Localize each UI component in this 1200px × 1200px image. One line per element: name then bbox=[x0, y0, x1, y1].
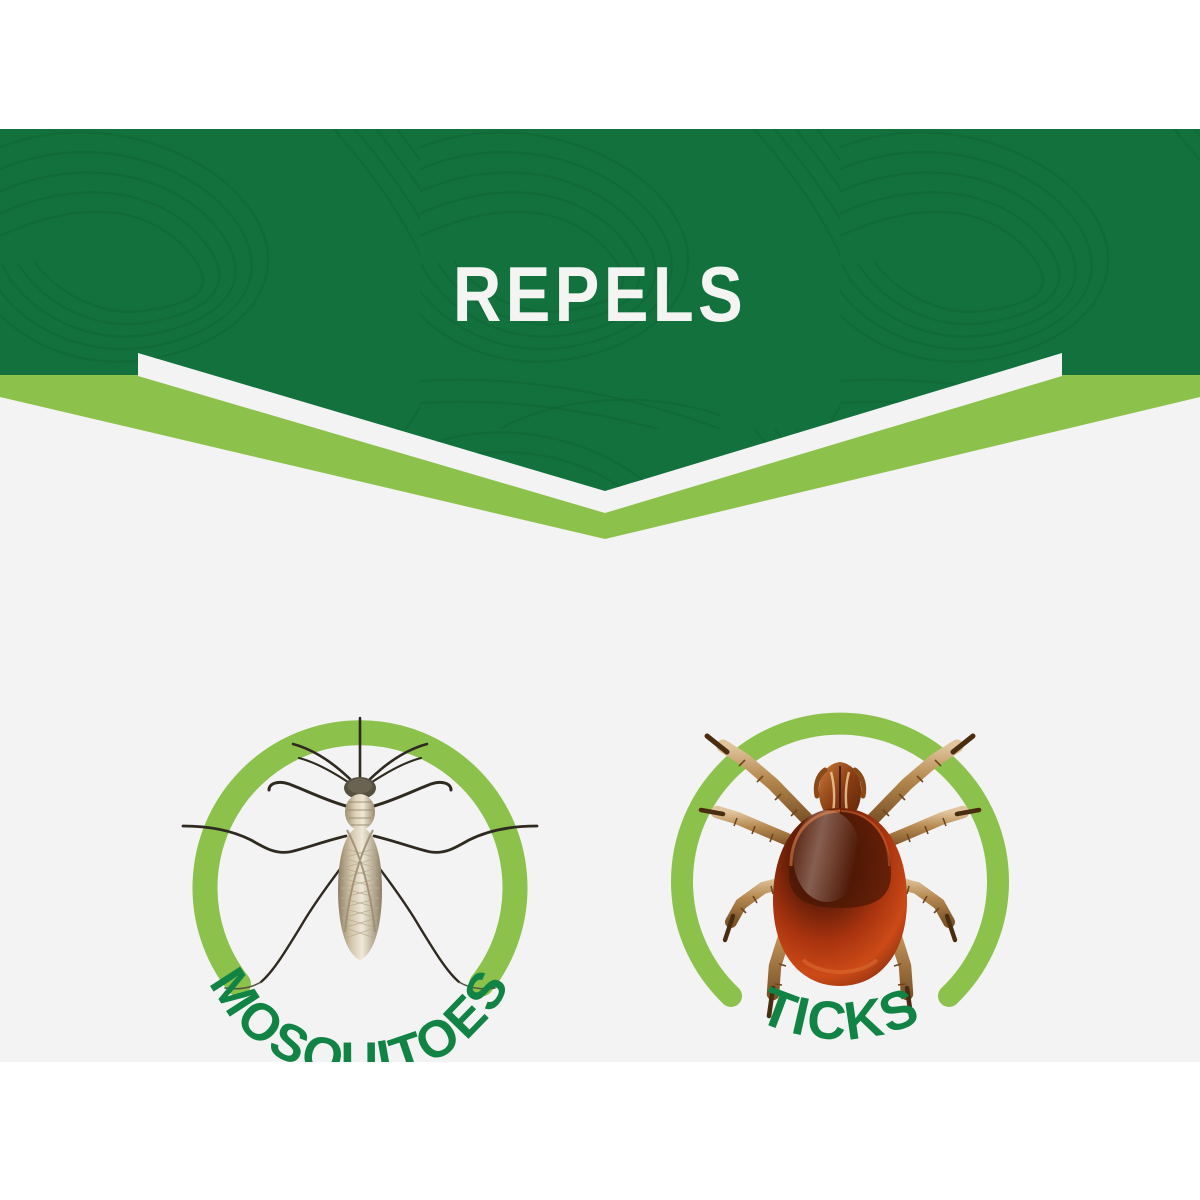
mosquito-icon bbox=[183, 718, 537, 989]
tick-badge-graphic bbox=[645, 660, 1035, 1062]
repels-banner: REPELS bbox=[0, 129, 1200, 539]
mosquito-badge-graphic bbox=[165, 660, 555, 1062]
tick-icon bbox=[701, 736, 979, 1016]
page-title: REPELS bbox=[84, 255, 1116, 333]
top-white-strip bbox=[0, 0, 1200, 129]
repels-badge-row: MOSQUITOES bbox=[0, 660, 1200, 1062]
badge-mosquitoes[interactable]: MOSQUITOES bbox=[165, 660, 555, 1062]
product-feature-graphic: REPELS bbox=[0, 0, 1200, 1200]
badge-ticks[interactable]: TICKS bbox=[645, 660, 1035, 1062]
